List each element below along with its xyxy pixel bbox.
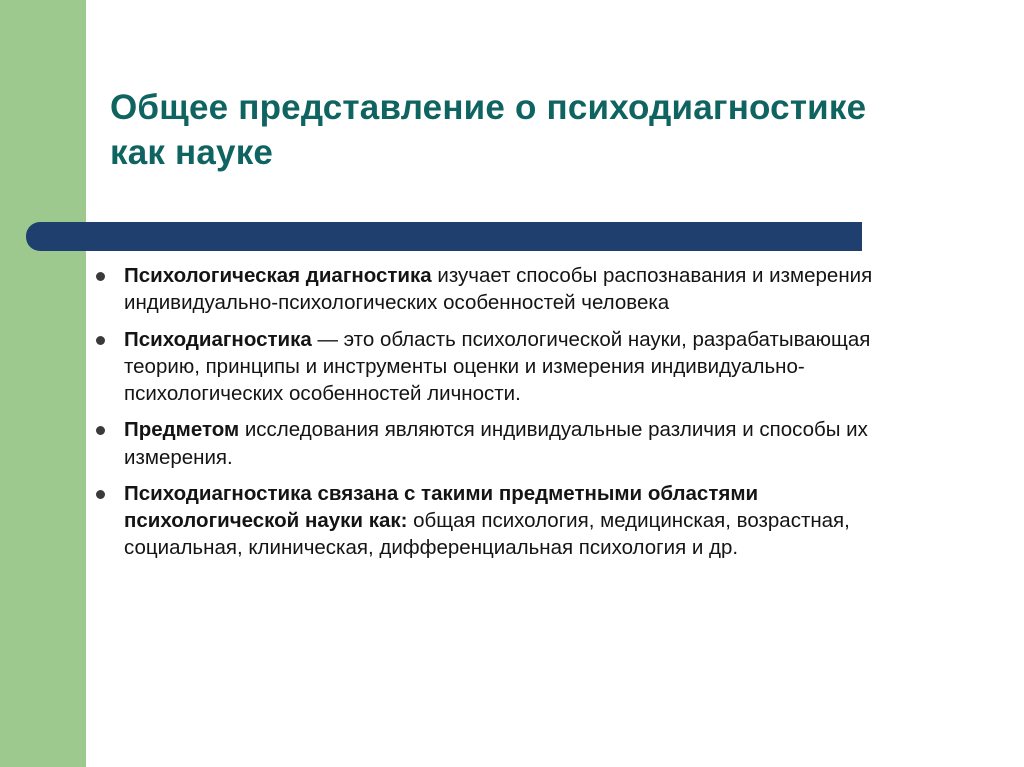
list-item-text: Психологическая диагностика изучает спос…: [124, 262, 926, 317]
presentation-slide: Общее представление о психодиагностике к…: [0, 0, 1024, 767]
list-item: Психологическая диагностика изучает спос…: [96, 262, 926, 317]
list-item: Психодиагностика — это область психологи…: [96, 326, 926, 408]
list-item-lead: Психодиагностика: [124, 328, 312, 351]
list-item-text: Предметом исследования являются индивиду…: [124, 416, 926, 471]
list-item-text: Психодиагностика — это область психологи…: [124, 326, 926, 408]
list-item-lead: Предметом: [124, 418, 239, 441]
slide-title: Общее представление о психодиагностике к…: [110, 86, 910, 176]
list-item: Психодиагностика связана с такими предме…: [96, 480, 926, 562]
bullet-dot-icon: [96, 326, 124, 345]
left-decorative-band: [0, 0, 86, 767]
list-item-lead: Психологическая диагностика: [124, 264, 432, 287]
bullet-dot-icon: [96, 416, 124, 435]
bullet-dot-icon: [96, 262, 124, 281]
bullet-list: Психологическая диагностика изучает спос…: [96, 262, 926, 571]
title-divider-bar: [26, 222, 862, 251]
bullet-dot-icon: [96, 480, 124, 499]
list-item-text: Психодиагностика связана с такими предме…: [124, 480, 926, 562]
list-item: Предметом исследования являются индивиду…: [96, 416, 926, 471]
